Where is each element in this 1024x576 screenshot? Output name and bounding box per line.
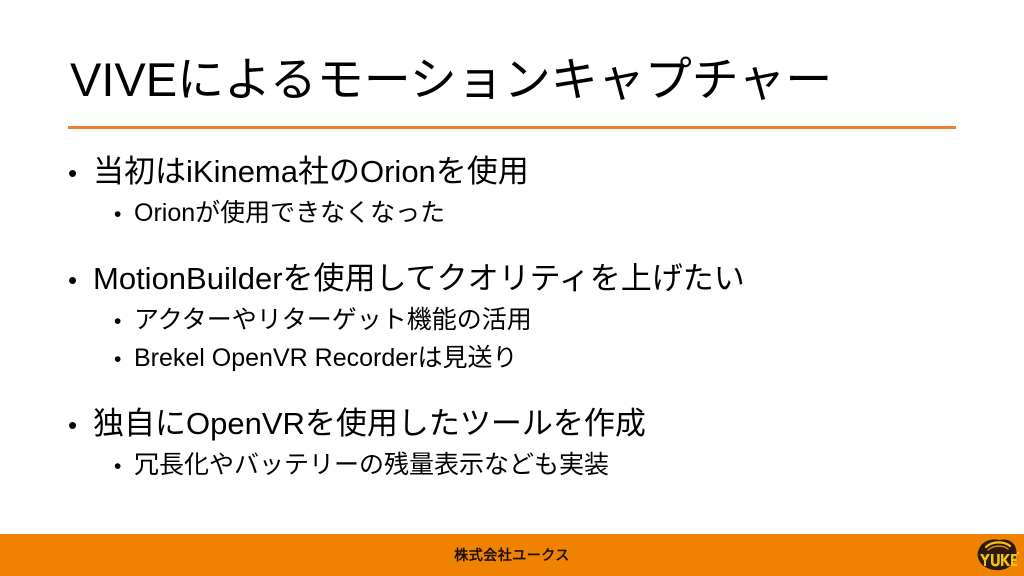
bullet-list: • 当初はiKinema社のOrionを使用 • Orionが使用できなくなった…: [68, 150, 968, 485]
bullet-level1-text: 独自にOpenVRを使用したツールを作成: [93, 402, 646, 446]
bullet-level1-text: MotionBuilderを使用してクオリティを上げたい: [93, 257, 745, 301]
slide: VIVEによるモーションキャプチャー • 当初はiKinema社のOrionを使…: [0, 0, 1024, 576]
bullet-marker-icon: •: [114, 341, 134, 378]
bullet-group: • MotionBuilderを使用してクオリティを上げたい • アクターやリタ…: [68, 257, 968, 378]
bullet-level2: • アクターやリターゲット機能の活用: [68, 302, 968, 340]
bullet-level1: • MotionBuilderを使用してクオリティを上げたい: [68, 257, 968, 302]
bullet-marker-icon: •: [114, 448, 134, 485]
bullet-marker-icon: •: [68, 151, 93, 195]
bullet-marker-icon: •: [68, 403, 93, 447]
bullet-level2-text: アクターやリターゲット機能の活用: [134, 302, 532, 339]
bullet-level2-text: Brekel OpenVR Recorderは見送り: [134, 340, 517, 377]
bullet-level1: • 独自にOpenVRを使用したツールを作成: [68, 402, 968, 447]
bullet-level2: • 冗長化やバッテリーの残量表示なども実装: [68, 447, 968, 485]
bullet-level2-text: 冗長化やバッテリーの残量表示なども実装: [134, 447, 609, 484]
title-divider: [68, 126, 956, 129]
bullet-level1-text: 当初はiKinema社のOrionを使用: [93, 150, 529, 194]
bullet-level2: • Brekel OpenVR Recorderは見送り: [68, 340, 968, 378]
footer-company-name: 株式会社ユークス: [0, 545, 1024, 565]
bullet-group: • 独自にOpenVRを使用したツールを作成 • 冗長化やバッテリーの残量表示な…: [68, 402, 968, 485]
bullet-marker-icon: •: [68, 258, 93, 302]
page-title: VIVEによるモーションキャプチャー: [70, 50, 970, 110]
bullet-group: • 当初はiKinema社のOrionを使用 • Orionが使用できなくなった: [68, 150, 968, 233]
bullet-level2-text: Orionが使用できなくなった: [134, 195, 445, 232]
bullet-marker-icon: •: [114, 196, 134, 233]
bullet-level2: • Orionが使用できなくなった: [68, 195, 968, 233]
bullet-marker-icon: •: [114, 303, 134, 340]
bullet-level1: • 当初はiKinema社のOrionを使用: [68, 150, 968, 195]
yukes-logo: [974, 536, 1020, 573]
